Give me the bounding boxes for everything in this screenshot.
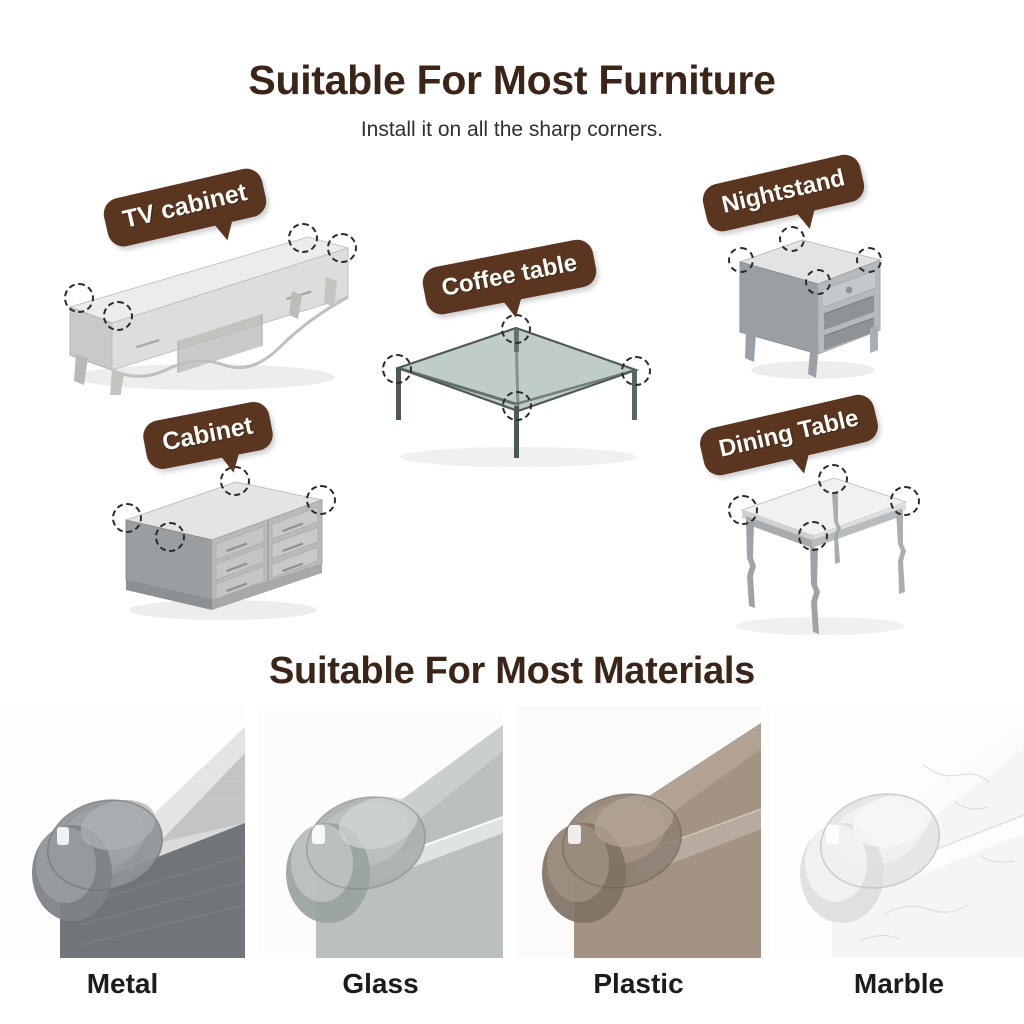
material-label-marble-text: Marble <box>854 968 944 999</box>
material-label-glass: Glass <box>258 968 503 1000</box>
bubble-tail <box>502 296 525 319</box>
corner-marker <box>288 223 318 253</box>
corner-marker <box>382 354 412 384</box>
label-nightstand-text: Nightstand <box>719 164 847 219</box>
label-coffee-table: Coffee table <box>420 237 599 317</box>
corner-marker <box>805 269 831 295</box>
plastic-corner-photo <box>516 705 761 958</box>
material-panel-metal <box>0 705 245 958</box>
material-panel-marble <box>774 705 1024 958</box>
material-label-metal-text: Metal <box>87 968 159 999</box>
corner-marker <box>502 391 532 421</box>
metal-corner-photo <box>0 705 245 958</box>
product-infographic: Suitable For Most Furniture Install it o… <box>0 0 1024 1024</box>
label-coffee-table-text: Coffee table <box>439 249 579 302</box>
corner-marker <box>818 464 848 494</box>
materials-panel-strip <box>0 705 1024 958</box>
nightstand-svg <box>728 222 898 382</box>
corner-marker <box>103 301 133 331</box>
furniture-section-title: Suitable For Most Furniture <box>0 57 1024 104</box>
cabinet-illustration <box>108 460 338 620</box>
corner-marker <box>112 503 142 533</box>
tv-cabinet-illustration <box>40 215 370 395</box>
corner-marker <box>728 247 754 273</box>
material-label-plastic: Plastic <box>516 968 761 1000</box>
corner-marker <box>890 486 920 516</box>
material-panel-glass <box>258 705 503 958</box>
corner-marker <box>856 247 882 273</box>
corner-marker <box>155 522 185 552</box>
corner-marker <box>64 283 94 313</box>
corner-marker <box>306 485 336 515</box>
glass-corner-photo <box>258 705 503 958</box>
material-label-metal: Metal <box>0 968 245 1000</box>
corner-marker <box>728 495 758 525</box>
coffee-table-illustration <box>368 318 658 468</box>
furniture-section-subtitle: Install it on all the sharp corners. <box>0 118 1024 142</box>
label-cabinet-text: Cabinet <box>160 412 255 457</box>
material-panel-plastic <box>516 705 761 958</box>
bubble-tail <box>220 451 243 474</box>
dining-table-illustration <box>710 458 930 638</box>
material-label-plastic-text: Plastic <box>593 968 683 999</box>
materials-section-title: Suitable For Most Materials <box>0 650 1024 693</box>
marble-corner-photo <box>774 705 1024 958</box>
corner-marker <box>621 356 651 386</box>
label-dining-table-text: Dining Table <box>716 404 861 462</box>
nightstand-illustration <box>728 222 898 382</box>
corner-marker <box>327 233 357 263</box>
material-label-marble: Marble <box>774 968 1024 1000</box>
corner-marker <box>798 521 828 551</box>
material-label-glass-text: Glass <box>342 968 418 999</box>
